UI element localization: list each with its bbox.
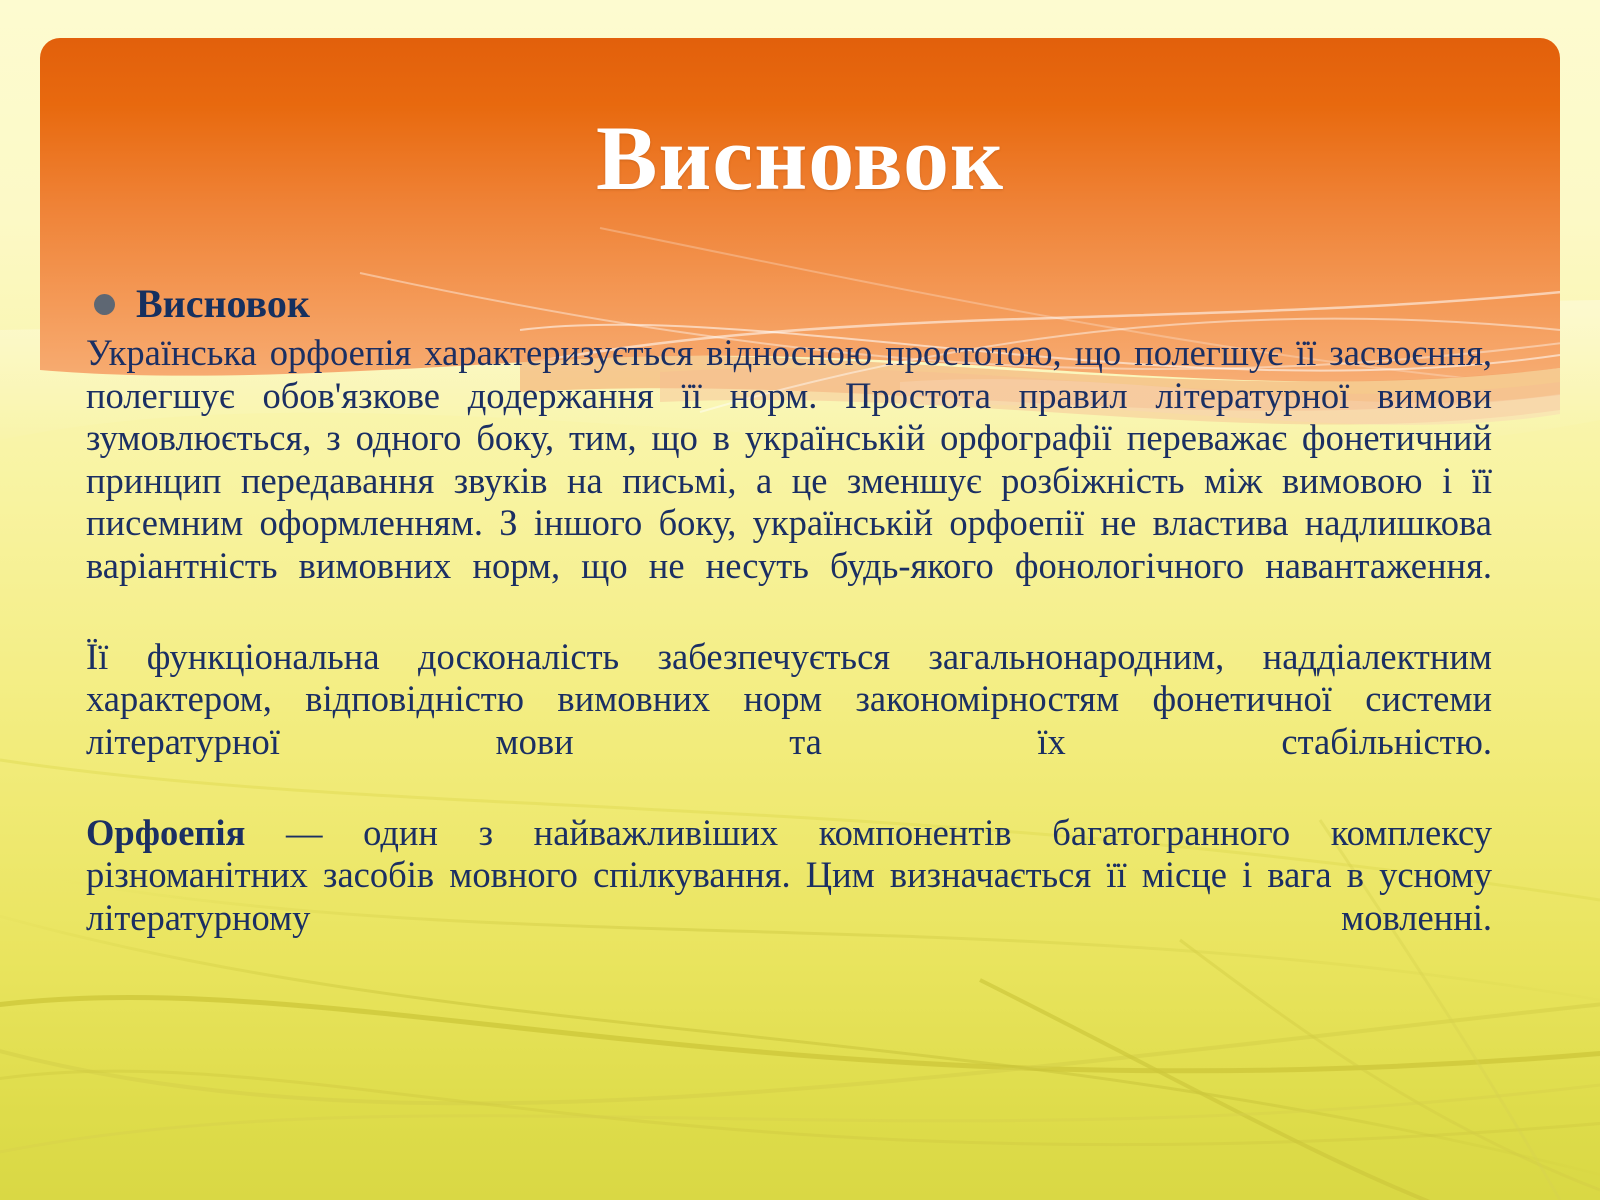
slide: Висновок Висновок Українська орфоепія ха… [0, 0, 1600, 1200]
page-title: Висновок [40, 112, 1560, 204]
paragraph-2: Її функціональна досконалість забезпечує… [86, 636, 1492, 806]
paragraph-3: Орфоепія — один з найважливіших компонен… [86, 812, 1492, 982]
paragraph-1: Українська орфоепія характеризується від… [86, 332, 1492, 630]
paragraph-3-lead: Орфоепія [86, 812, 245, 853]
bullet-heading: Висновок [94, 282, 1492, 326]
paragraph-3-body: — один з найважливіших компонентів багат… [86, 812, 1492, 938]
bullet-dot-icon [94, 294, 115, 315]
bullet-heading-label: Висновок [136, 282, 310, 326]
slide-body: Висновок Українська орфоепія характеризу… [86, 282, 1492, 986]
